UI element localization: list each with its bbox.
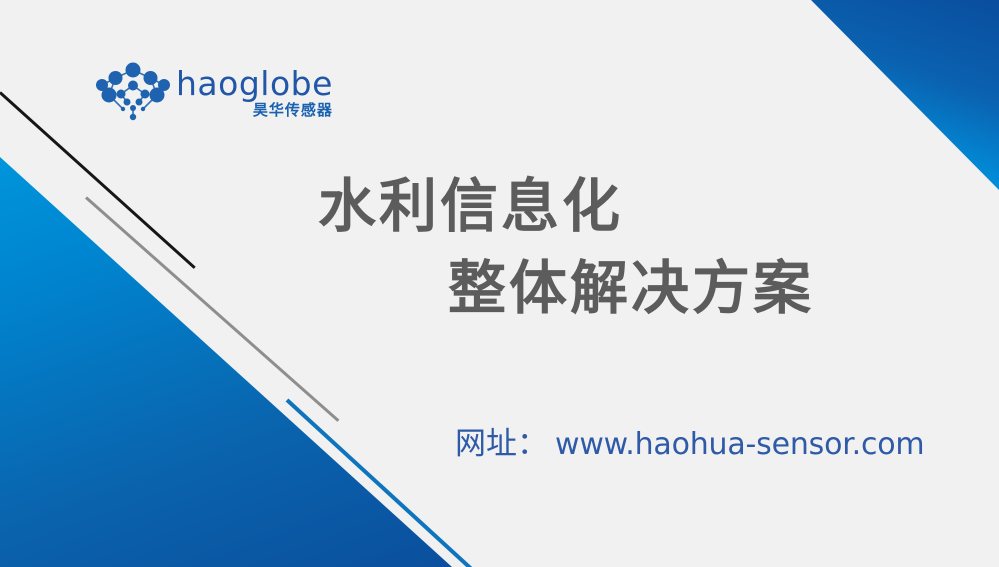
website-label: 网址： [455, 418, 548, 463]
company-logo: haoglobe 昊华传感器 [96, 57, 316, 127]
presentation-title-slide: haoglobe 昊华传感器 水利信息化 整体解决方案 网址： www.haoh… [0, 0, 999, 567]
website-line: 网址： www.haohua-sensor.com [455, 418, 924, 463]
slide-title: 水利信息化 整体解决方案 [300, 165, 940, 330]
logo-text-block: haoglobe 昊华传感器 [176, 67, 333, 118]
logo-wordmark: haoglobe [176, 67, 333, 100]
website-url[interactable]: www.haohua-sensor.com [555, 427, 924, 462]
title-line-2: 整体解决方案 [300, 247, 940, 329]
network-dots-icon [96, 61, 170, 123]
logo-subtext-chinese: 昊华传感器 [253, 103, 333, 118]
title-line-1: 水利信息化 [300, 165, 940, 247]
